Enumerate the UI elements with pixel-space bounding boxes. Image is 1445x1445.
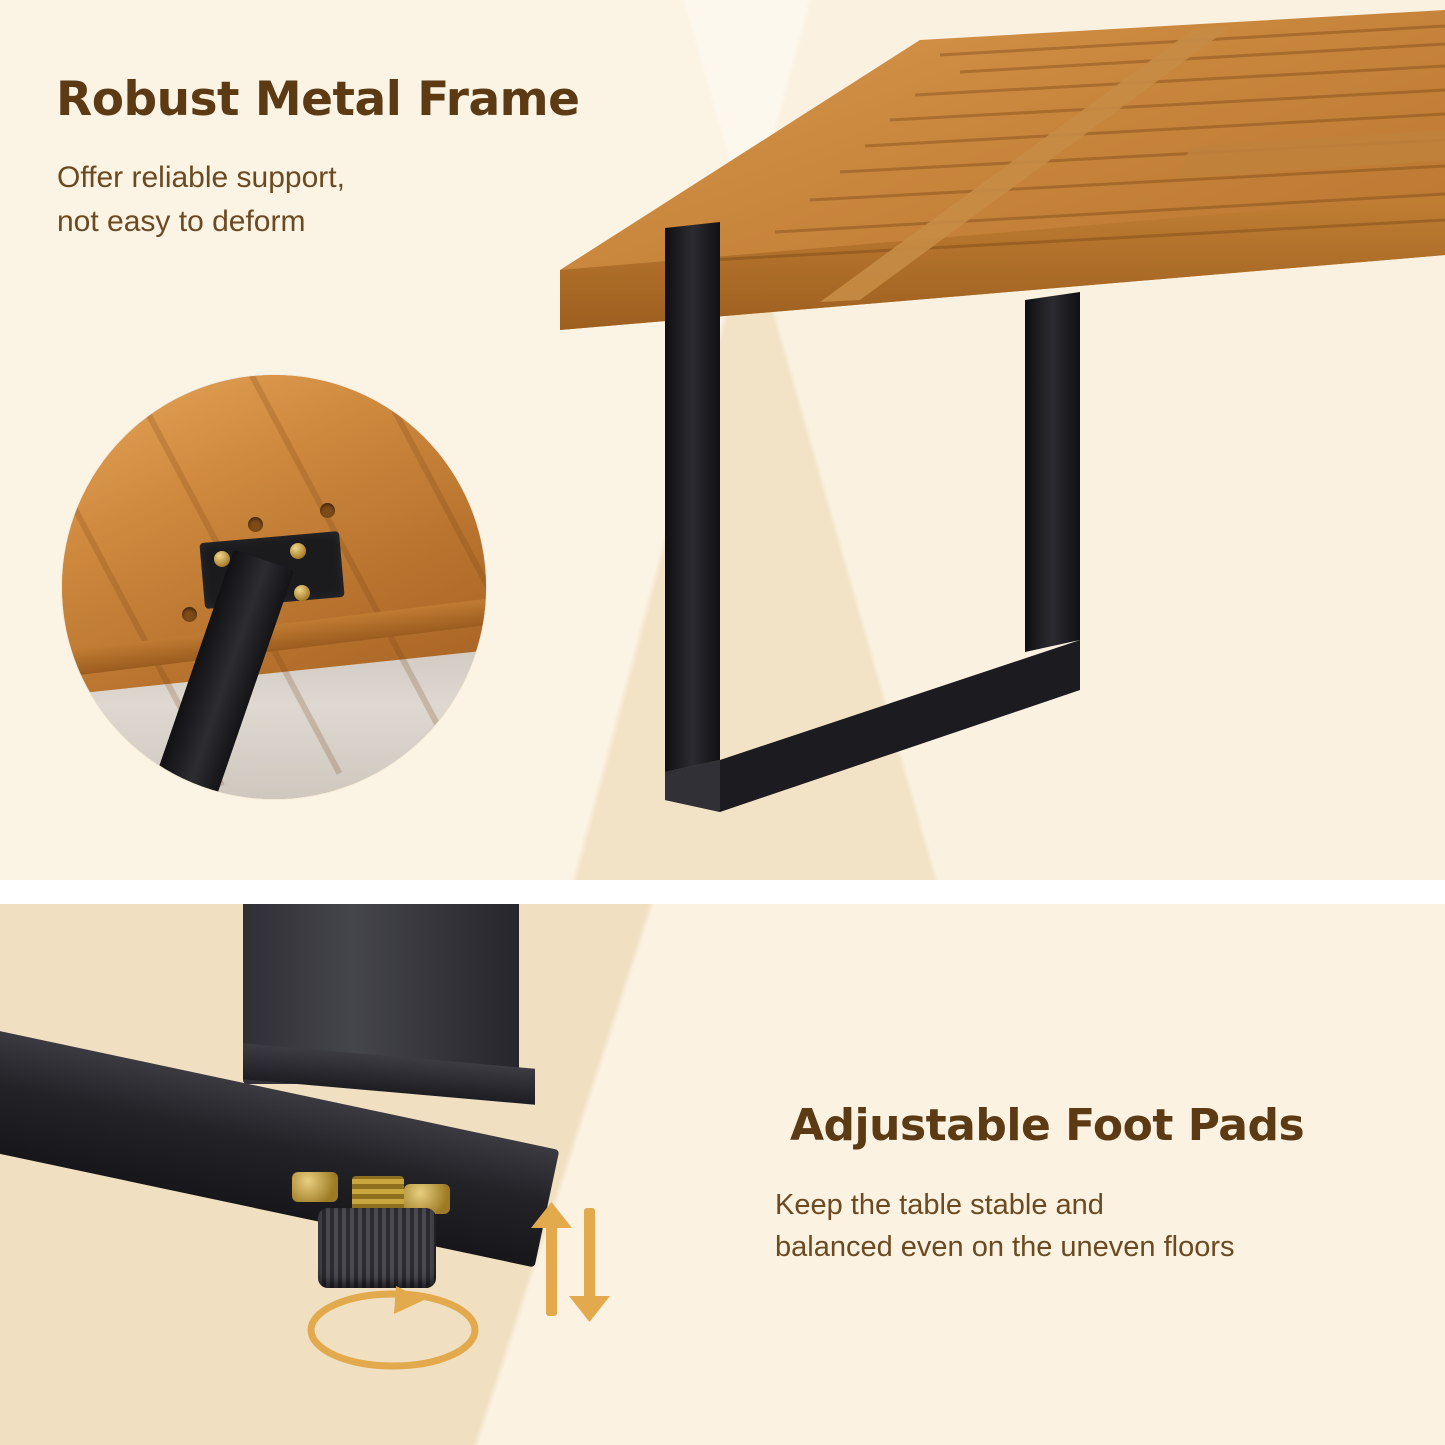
- table-photo-top: [520, 0, 1445, 880]
- bottom-feature-panel: Adjustable Foot Pads Keep the table stab…: [0, 904, 1445, 1445]
- bracket-closeup-inset: [62, 375, 486, 799]
- bottom-panel-heading: Adjustable Foot Pads: [790, 1100, 1304, 1151]
- brass-nut: [292, 1172, 338, 1202]
- adjustable-foot-pad: [318, 1208, 436, 1288]
- top-panel-subtext-line2: not easy to deform: [57, 200, 345, 244]
- table-illustration: [520, 0, 1445, 880]
- screw-hole: [248, 517, 263, 532]
- bottom-panel-subtext-line1: Keep the table stable and: [775, 1184, 1235, 1226]
- rotate-arrow-icon: [300, 1282, 486, 1378]
- foot-pad-photo: [0, 904, 700, 1445]
- bracket-screw: [290, 543, 306, 559]
- bottom-panel-subtext: Keep the table stable and balanced even …: [775, 1184, 1235, 1268]
- screw-hole: [182, 607, 197, 622]
- screw-hole: [320, 503, 335, 518]
- top-panel-subtext: Offer reliable support, not easy to defo…: [57, 156, 345, 243]
- up-down-arrow-icon: [528, 1202, 618, 1322]
- product-feature-image: Robust Metal Frame Offer reliable suppor…: [0, 0, 1445, 1445]
- top-panel-heading: Robust Metal Frame: [56, 72, 580, 127]
- top-panel-subtext-line1: Offer reliable support,: [57, 156, 345, 200]
- bottom-panel-subtext-line2: balanced even on the uneven floors: [775, 1226, 1235, 1268]
- top-feature-panel: Robust Metal Frame Offer reliable suppor…: [0, 0, 1445, 880]
- bracket-screw: [294, 585, 310, 601]
- panel-divider: [0, 880, 1445, 904]
